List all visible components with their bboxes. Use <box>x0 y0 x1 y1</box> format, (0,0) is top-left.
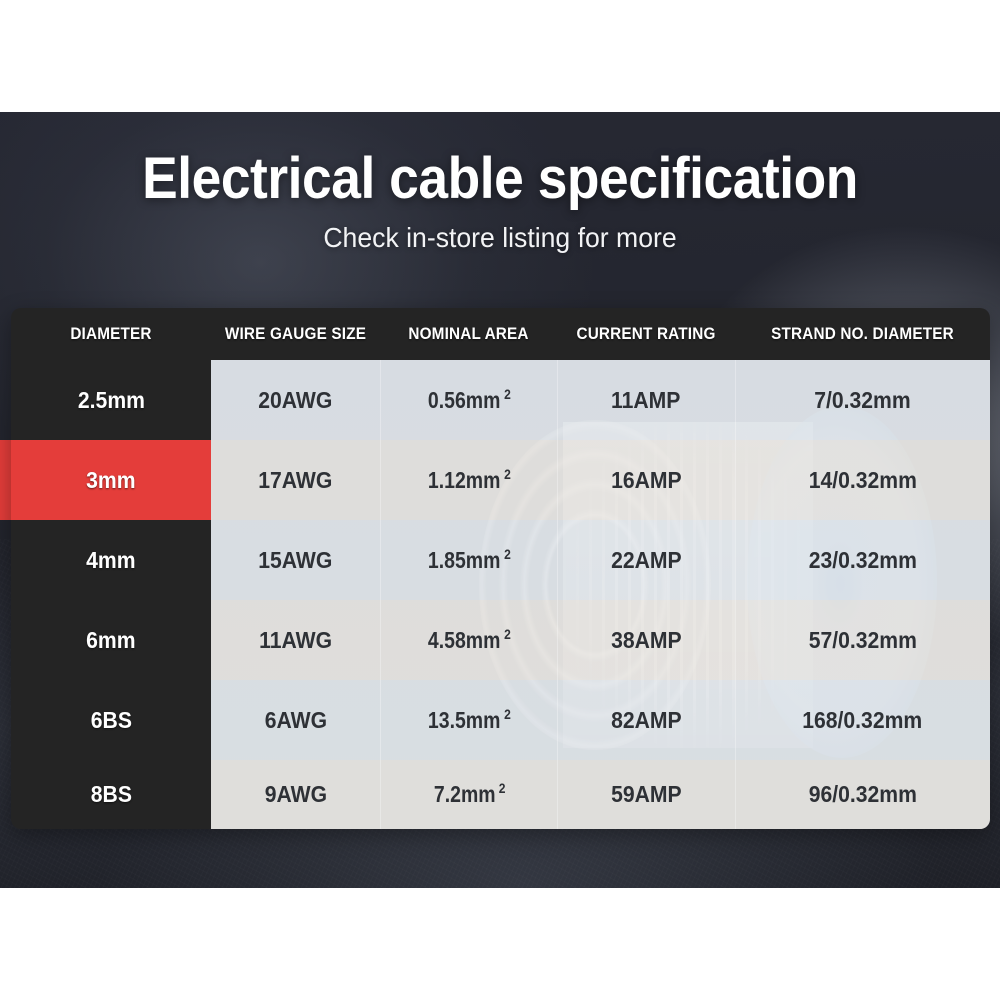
cell-strand-no-diameter: 57/0.32mm <box>735 600 990 680</box>
cell-diameter-text: 3mm <box>86 467 135 494</box>
cell-current-rating: 59AMP <box>557 760 735 829</box>
table-header-row: DIAMETER WIRE GAUGE SIZE NOMINAL AREA CU… <box>11 308 990 360</box>
cell-diameter-text: 4mm <box>86 547 135 574</box>
column-header-wire-gauge-size: WIRE GAUGE SIZE <box>219 308 371 360</box>
cell-nominal-area: 1.85mm2 <box>380 520 557 600</box>
cell-strand-no-diameter: 23/0.32mm <box>735 520 990 600</box>
cell-diameter-text: 6mm <box>86 627 135 654</box>
cell-diameter: 6mm <box>11 600 211 680</box>
cell-diameter-text: 8BS <box>90 781 131 808</box>
column-header-nominal-area: NOMINAL AREA <box>389 308 548 360</box>
cell-wire-gauge-size: 11AWG <box>211 600 380 680</box>
table-row-highlighted: 3mm 17AWG 1.12mm2 16AMP 14/0.32mm <box>11 440 990 520</box>
cell-current-rating: 38AMP <box>557 600 735 680</box>
page-title: Electrical cable specification <box>40 150 960 208</box>
cell-nominal-area: 1.12mm2 <box>380 440 557 520</box>
cell-wire-gauge-size: 9AWG <box>211 760 380 829</box>
cell-current-rating: 16AMP <box>557 440 735 520</box>
table-row: 2.5mm 20AWG 0.56mm2 11AMP 7/0.32mm <box>11 360 990 440</box>
cell-diameter-text: 2.5mm <box>77 387 144 414</box>
cell-strand-no-diameter: 14/0.32mm <box>735 440 990 520</box>
cell-wire-gauge-size: 15AWG <box>211 520 380 600</box>
cell-strand-no-diameter: 7/0.32mm <box>735 360 990 440</box>
cell-wire-gauge-size: 20AWG <box>211 360 380 440</box>
cell-diameter: 8BS <box>11 760 211 829</box>
cell-strand-no-diameter: 168/0.32mm <box>735 680 990 760</box>
column-header-strand-no-diameter: STRAND NO. DIAMETER <box>748 308 978 360</box>
cell-diameter: 2.5mm <box>11 360 211 440</box>
cell-diameter: 6BS <box>11 680 211 760</box>
heading-block: Electrical cable specification Check in-… <box>0 150 1000 252</box>
table-row: 6mm 11AWG 4.58mm2 38AMP 57/0.32mm <box>11 600 990 680</box>
cell-strand-no-diameter: 96/0.32mm <box>735 760 990 829</box>
table-row: 6BS 6AWG 13.5mm2 82AMP 168/0.32mm <box>11 680 990 760</box>
cell-wire-gauge-size: 17AWG <box>211 440 380 520</box>
cell-nominal-area: 4.58mm2 <box>380 600 557 680</box>
cell-diameter-text: 6BS <box>90 707 131 734</box>
product-infographic: Electrical cable specification Check in-… <box>0 0 1000 1000</box>
cell-wire-gauge-size: 6AWG <box>211 680 380 760</box>
spec-table: DIAMETER WIRE GAUGE SIZE NOMINAL AREA CU… <box>11 308 990 829</box>
cell-nominal-area: 7.2mm2 <box>380 760 557 829</box>
cell-current-rating: 82AMP <box>557 680 735 760</box>
cell-current-rating: 22AMP <box>557 520 735 600</box>
table-row: 4mm 15AWG 1.85mm2 22AMP 23/0.32mm <box>11 520 990 600</box>
cell-nominal-area: 0.56mm2 <box>380 360 557 440</box>
cell-diameter: 3mm <box>11 440 211 520</box>
cell-current-rating: 11AMP <box>557 360 735 440</box>
cell-diameter: 4mm <box>11 520 211 600</box>
spec-table-card: DIAMETER WIRE GAUGE SIZE NOMINAL AREA CU… <box>11 308 990 829</box>
column-header-diameter: DIAMETER <box>21 308 201 360</box>
table-row: 8BS 9AWG 7.2mm2 59AMP 96/0.32mm <box>11 760 990 829</box>
cell-nominal-area: 13.5mm2 <box>380 680 557 760</box>
column-header-current-rating: CURRENT RATING <box>566 308 726 360</box>
page-subtitle: Check in-store listing for more <box>25 224 975 252</box>
